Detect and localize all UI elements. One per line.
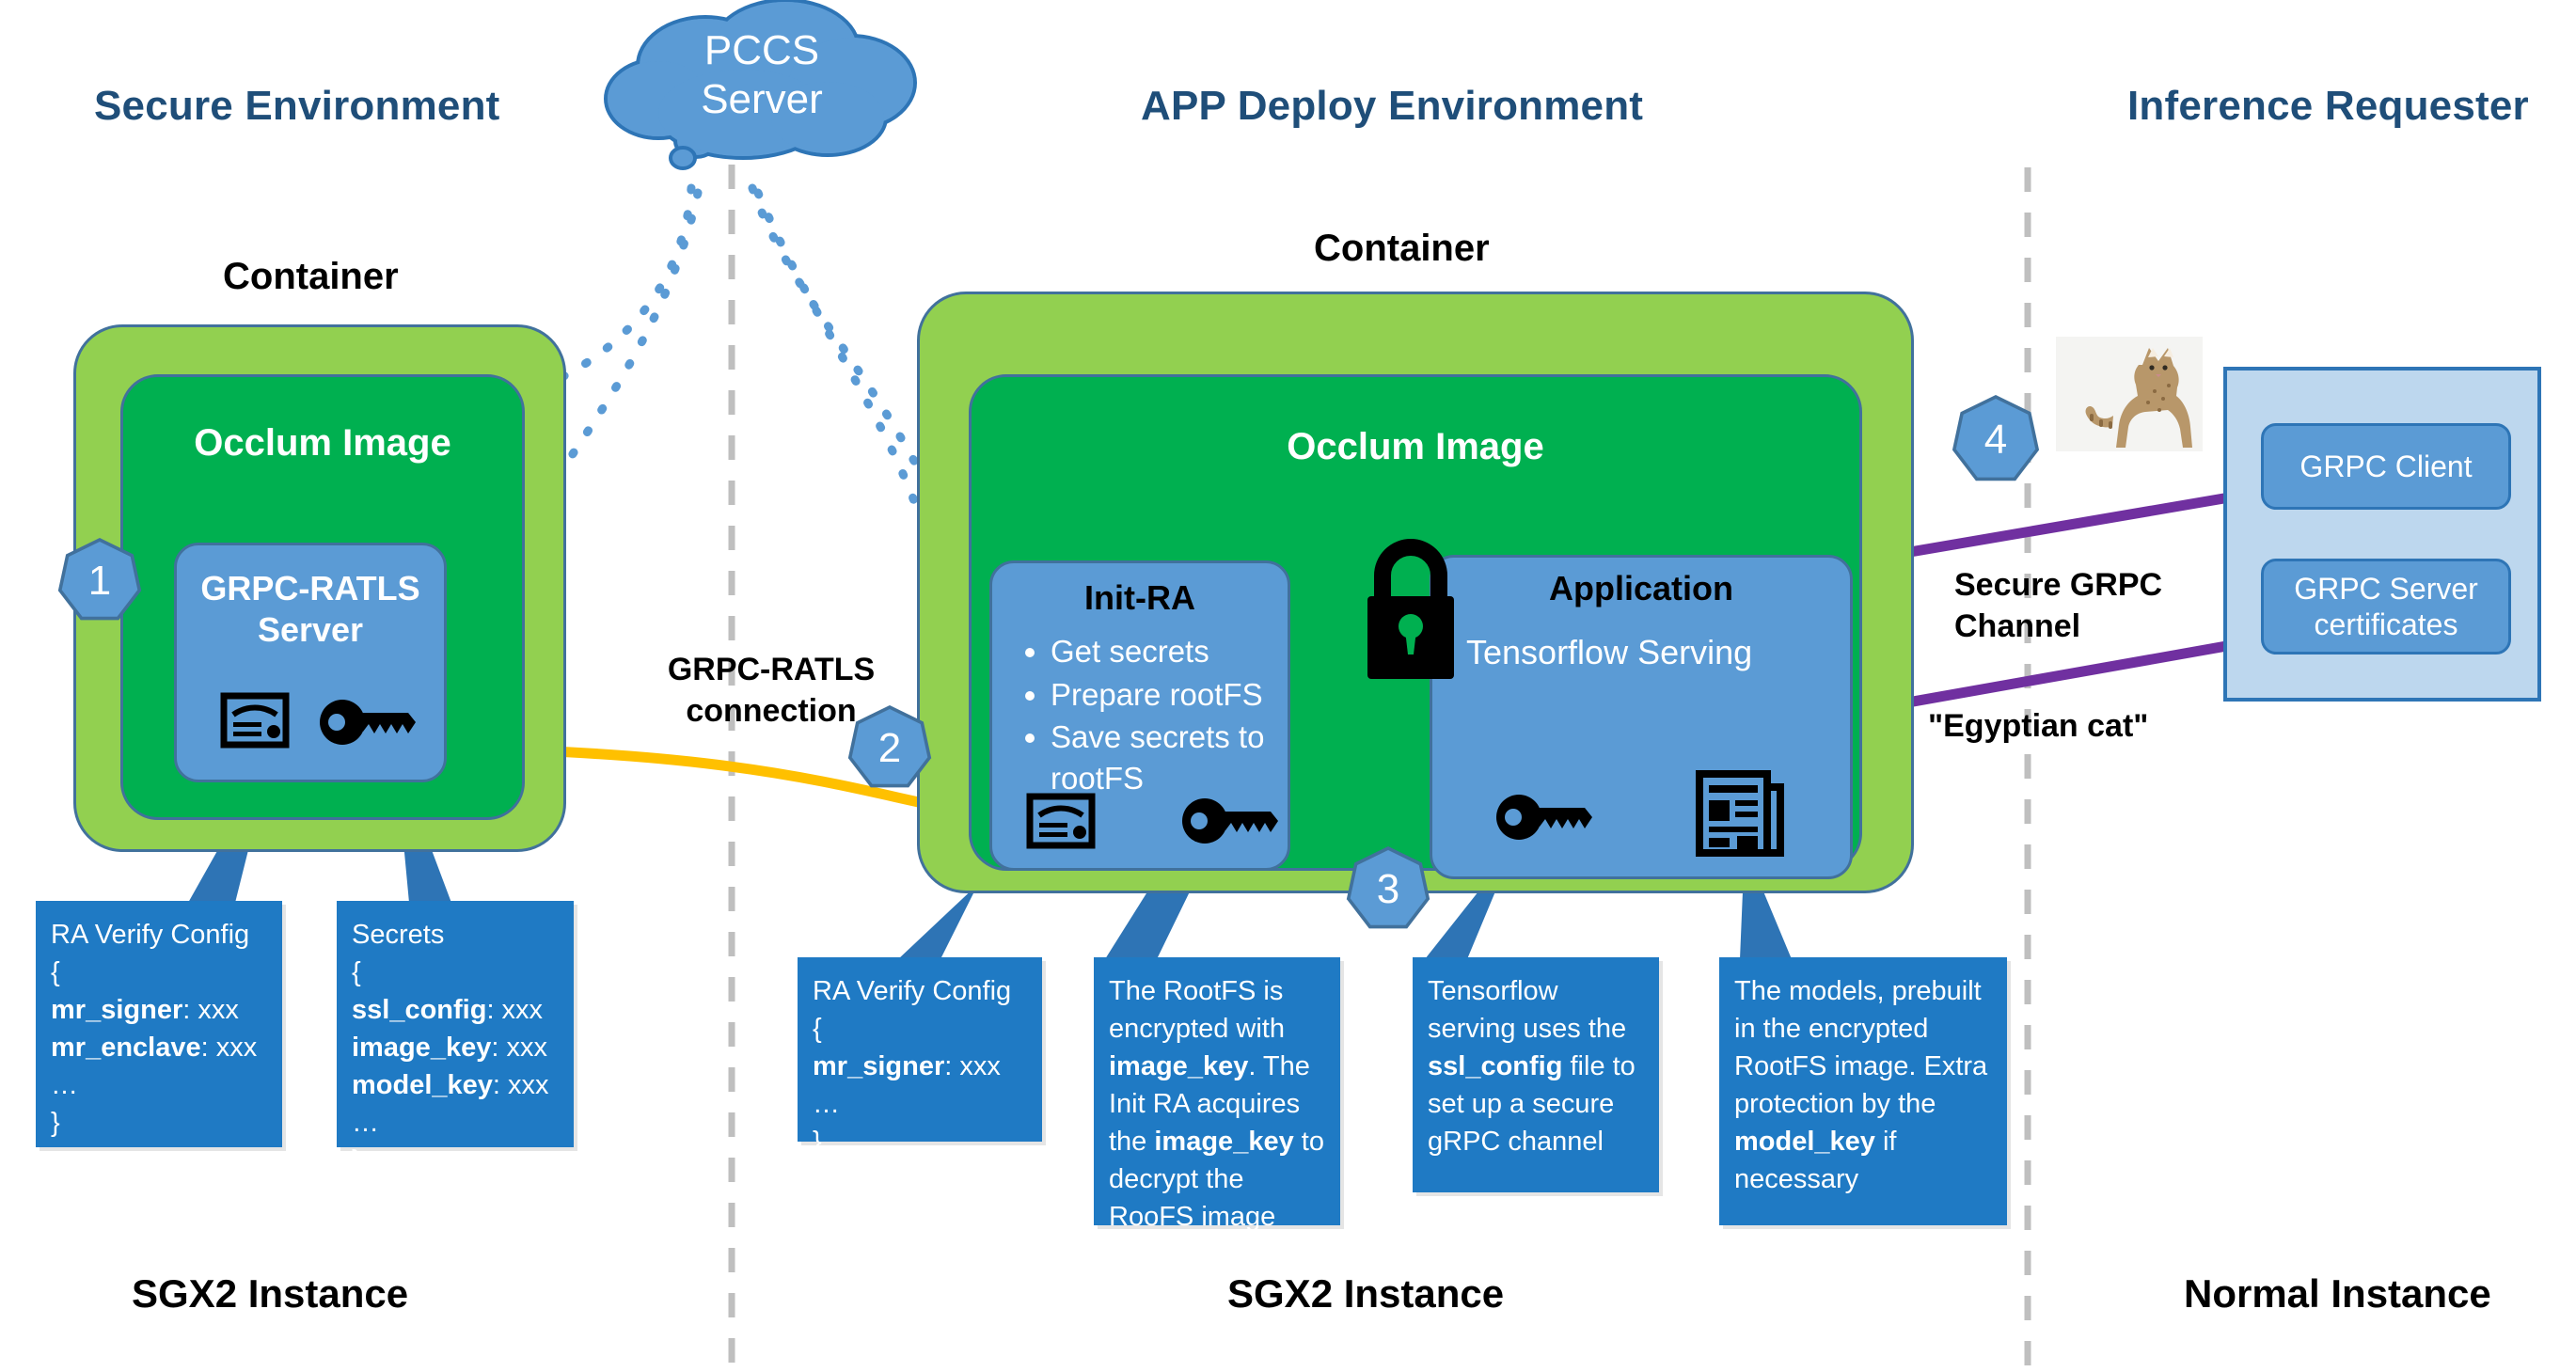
ratls-connection-label-line2: connection bbox=[658, 690, 884, 732]
callout-title: RA Verify Config bbox=[51, 916, 267, 954]
callout-value: : xxx bbox=[201, 1033, 258, 1063]
certificate-icon bbox=[222, 694, 288, 747]
application-title: Application bbox=[1432, 569, 1850, 608]
callout-line: } bbox=[813, 1123, 1027, 1160]
callout-title: Secrets bbox=[352, 916, 559, 954]
callout-line: { bbox=[352, 954, 559, 991]
egyptian-cat-photo bbox=[2056, 337, 2203, 451]
grpc-client-label: GRPC Client bbox=[2299, 449, 2472, 484]
init-ra-bullet: Prepare rootFS bbox=[1051, 674, 1278, 716]
step-badge-2-value: 2 bbox=[850, 709, 929, 788]
middle-occlum-label: Occlum Image bbox=[972, 426, 1859, 468]
grpc-ratls-server-title-line1: GRPC-RATLS bbox=[177, 568, 444, 609]
init-ra-title: Init-RA bbox=[992, 578, 1288, 618]
secure-grpc-channel-label: Secure GRPC Channel bbox=[1954, 564, 2162, 647]
callout-line: image_key: xxx bbox=[352, 1029, 559, 1066]
footer-label-sgx2-left: SGX2 Instance bbox=[132, 1271, 408, 1317]
callout-line: mr_enclave: xxx bbox=[51, 1029, 267, 1066]
callout-key: image_key bbox=[352, 1033, 491, 1063]
key-icon bbox=[318, 698, 417, 747]
key-icon bbox=[1180, 796, 1279, 845]
grpc-server-certs-label: GRPC Server certificates bbox=[2264, 571, 2508, 643]
zone-title-secure: Secure Environment bbox=[94, 83, 500, 130]
left-container-label: Container bbox=[223, 256, 399, 298]
callout-line: { bbox=[51, 954, 267, 991]
init-ra-box[interactable]: Init-RA Get secrets Prepare rootFS Save … bbox=[989, 560, 1290, 871]
inference-result-label: "Egyptian cat" bbox=[1928, 705, 2148, 747]
diagram-canvas: PCCS Server Secure Environment APP Deplo… bbox=[0, 0, 2576, 1372]
secure-grpc-channel-line2: Channel bbox=[1954, 606, 2162, 647]
middle-container-label: Container bbox=[1314, 228, 1490, 270]
callout-line: } bbox=[51, 1104, 267, 1142]
grpc-client-chip[interactable]: GRPC Client bbox=[2261, 423, 2511, 510]
application-box[interactable]: Application Tensorflow Serving bbox=[1430, 555, 1853, 879]
grpc-ratls-server-title-line2: Server bbox=[177, 609, 444, 651]
callout-line: } bbox=[352, 1142, 559, 1179]
init-ra-bullet: Save secrets to rootFS bbox=[1051, 717, 1278, 798]
callout-run: The RootFS is encrypted with bbox=[1109, 976, 1285, 1044]
callout-line: { bbox=[813, 1010, 1027, 1048]
callout-line: … bbox=[813, 1085, 1027, 1123]
callout-ra-verify-config-mid: RA Verify Config { mr_signer: xxx … } bbox=[798, 957, 1042, 1142]
zone-title-deploy: APP Deploy Environment bbox=[1141, 83, 1643, 130]
pccs-cloud-line1: PCCS bbox=[593, 26, 931, 75]
init-ra-bullet: Get secrets bbox=[1051, 631, 1278, 672]
zone-title-requester: Inference Requester bbox=[2127, 83, 2529, 130]
callout-line: … bbox=[352, 1104, 559, 1142]
callout-line: … bbox=[51, 1066, 267, 1104]
init-ra-bullet-list: Get secrets Prepare rootFS Save secrets … bbox=[1013, 631, 1278, 800]
grpc-ratls-server-box[interactable]: GRPC-RATLS Server bbox=[174, 543, 447, 782]
pccs-cloud: PCCS Server bbox=[593, 0, 931, 188]
secure-grpc-channel-line1: Secure GRPC bbox=[1954, 564, 2162, 606]
callout-value: : xxx bbox=[944, 1051, 1001, 1081]
callout-run-bold: image_key bbox=[1109, 1051, 1248, 1081]
callout-key: model_key bbox=[352, 1070, 493, 1100]
callout-rootfs-note: The RootFS is encrypted with image_key. … bbox=[1094, 957, 1340, 1225]
ratls-connection-label: GRPC-RATLS connection bbox=[658, 649, 884, 732]
news-icon bbox=[1696, 766, 1786, 857]
callout-line: model_key: xxx bbox=[352, 1066, 559, 1104]
callout-line: ssl_config: xxx bbox=[352, 991, 559, 1029]
callout-value: : xxx bbox=[493, 1070, 549, 1100]
callout-key: mr_signer bbox=[813, 1051, 944, 1081]
callout-ra-verify-config-left: RA Verify Config { mr_signer: xxx mr_enc… bbox=[36, 901, 282, 1147]
footer-label-normal-right: Normal Instance bbox=[2184, 1271, 2491, 1317]
callout-value: : xxx bbox=[491, 1033, 547, 1063]
callout-run-bold: image_key bbox=[1154, 1127, 1293, 1157]
application-subtitle: Tensorflow Serving bbox=[1466, 633, 1752, 672]
inference-requester-panel: GRPC Client GRPC Server certificates bbox=[2223, 367, 2541, 702]
key-icon bbox=[1494, 793, 1593, 842]
step-badge-1-value: 1 bbox=[60, 542, 139, 621]
footer-label-sgx2-middle: SGX2 Instance bbox=[1227, 1271, 1504, 1317]
callout-title: RA Verify Config bbox=[813, 972, 1027, 1010]
callout-value: : xxx bbox=[486, 995, 543, 1025]
certificate-icon bbox=[1028, 795, 1094, 847]
callout-key: mr_signer bbox=[51, 995, 182, 1025]
callout-key: ssl_config bbox=[352, 995, 486, 1025]
grpc-server-certs-chip[interactable]: GRPC Server certificates bbox=[2261, 559, 2511, 654]
pccs-cloud-line2: Server bbox=[593, 75, 931, 124]
step-badge-3-value: 3 bbox=[1349, 850, 1428, 929]
callout-run-bold: ssl_config bbox=[1428, 1051, 1562, 1081]
callout-line: mr_signer: xxx bbox=[51, 991, 267, 1029]
left-occlum-label: Occlum Image bbox=[123, 422, 522, 465]
leader-ra-verify-mid bbox=[898, 884, 978, 959]
callout-run: Tensorflow serving uses the bbox=[1428, 976, 1626, 1044]
callout-sslconfig-note: Tensorflow serving uses the ssl_config f… bbox=[1413, 957, 1659, 1192]
padlock-icon bbox=[1354, 527, 1467, 682]
callout-run-bold: model_key bbox=[1734, 1127, 1875, 1157]
callout-secrets-left: Secrets { ssl_config: xxx image_key: xxx… bbox=[337, 901, 574, 1147]
ratls-connection-label-line1: GRPC-RATLS bbox=[658, 649, 884, 690]
callout-key: mr_enclave bbox=[51, 1033, 201, 1063]
callout-value: : xxx bbox=[182, 995, 239, 1025]
callout-line: mr_signer: xxx bbox=[813, 1048, 1027, 1085]
callout-models-note: The models, prebuilt in the encrypted Ro… bbox=[1719, 957, 2007, 1225]
callout-run: The models, prebuilt in the encrypted Ro… bbox=[1734, 976, 1987, 1119]
